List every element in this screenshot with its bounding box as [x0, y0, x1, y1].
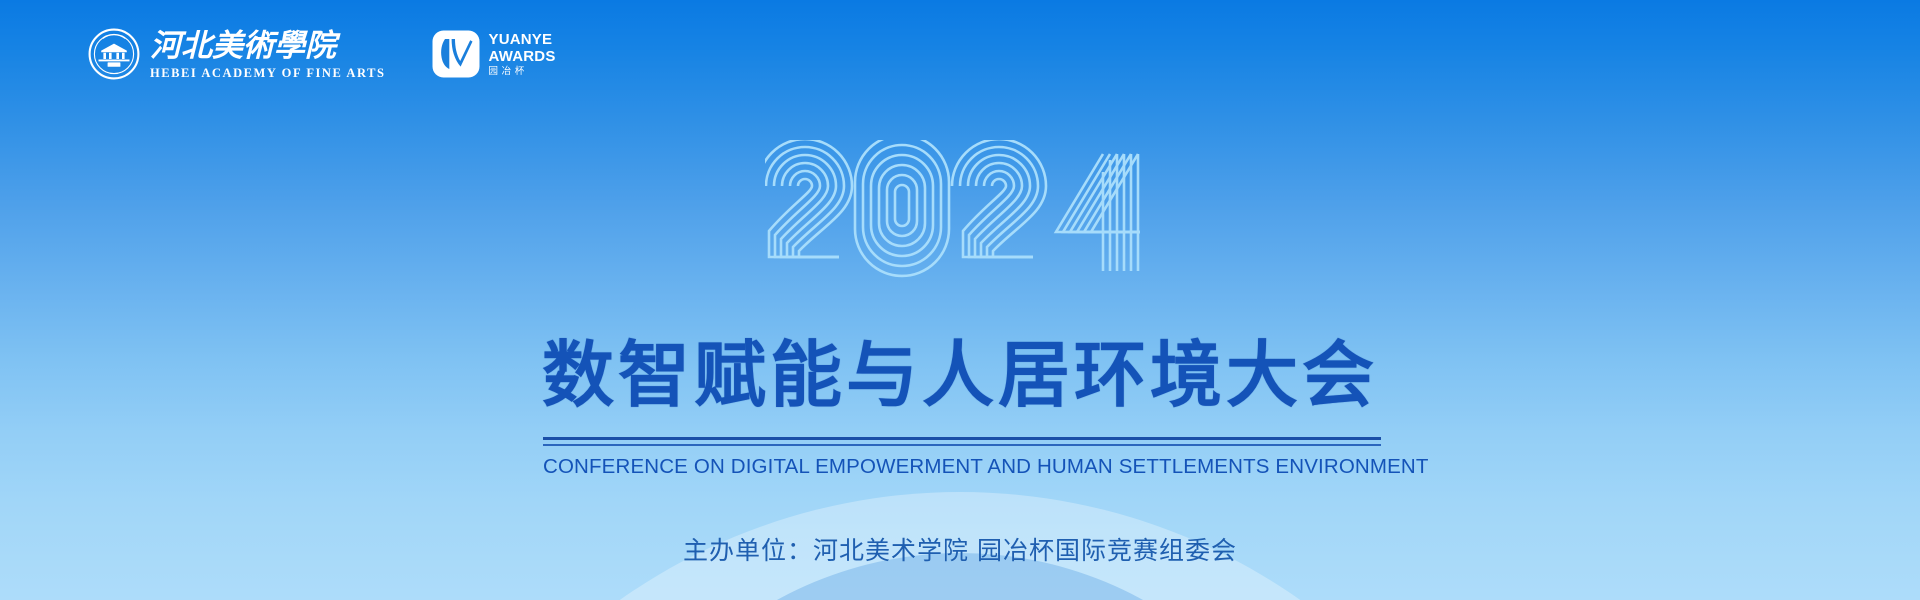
- title-divider-thin: [543, 444, 1381, 446]
- year-graphic: [0, 140, 1920, 290]
- conference-banner: 河北美術學院 HEBEI ACADEMY OF FINE ARTS YUANYE…: [0, 0, 1920, 600]
- hebei-academy-chinese-name: 河北美術學院: [150, 29, 356, 63]
- organizer-line: 主办单位：河北美术学院 园冶杯国际竞赛组委会: [0, 531, 1920, 567]
- title-divider: [543, 437, 1381, 446]
- title-divider-thick: [543, 437, 1381, 440]
- svg-text:河北美術學院: 河北美術學院: [150, 29, 341, 63]
- hebei-academy-wordmark: 河北美術學院 HEBEI ACADEMY OF FINE ARTS: [150, 29, 386, 80]
- yuanye-awards-logo: YUANYE AWARDS 园冶杯: [432, 30, 556, 78]
- hebei-academy-seal-icon: [88, 28, 140, 80]
- hebei-academy-logo: 河北美術學院 HEBEI ACADEMY OF FINE ARTS: [88, 28, 386, 80]
- yuanye-awards-line2: AWARDS: [489, 49, 556, 64]
- yuanye-awards-chinese-name: 园冶杯: [489, 67, 556, 77]
- logo-bar: 河北美術學院 HEBEI ACADEMY OF FINE ARTS YUANYE…: [88, 28, 556, 80]
- hebei-academy-english-name: HEBEI ACADEMY OF FINE ARTS: [150, 67, 386, 80]
- page-subtitle: CONFERENCE ON DIGITAL EMPOWERMENT AND HU…: [543, 455, 1381, 479]
- page-title: 数智赋能与人居环境大会: [0, 340, 1920, 412]
- yuanye-awards-mark-icon: [432, 30, 480, 78]
- yuanye-awards-wordmark: YUANYE AWARDS 园冶杯: [489, 32, 556, 77]
- yuanye-awards-line1: YUANYE: [489, 32, 556, 47]
